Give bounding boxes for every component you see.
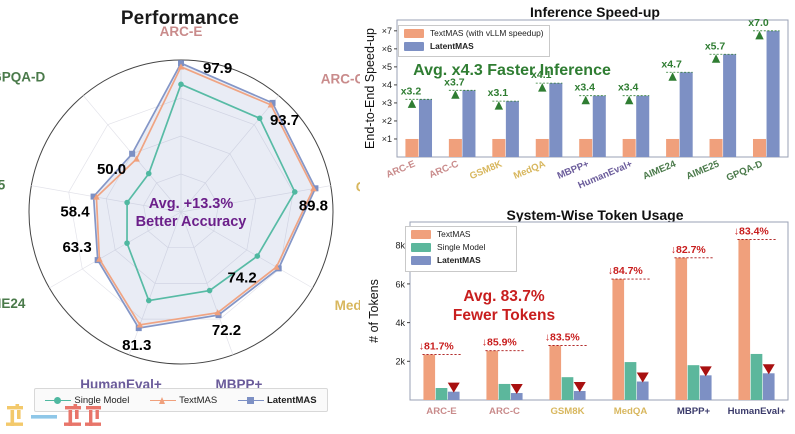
radar-legend-item-latentmas: LatentMAS xyxy=(238,395,317,406)
tokens-reduction-label: ↓83.4% xyxy=(734,225,770,237)
tokens-bar-single-model xyxy=(625,362,637,400)
speedup-bar-textmas xyxy=(666,139,679,157)
tokens-bar-textmas xyxy=(675,258,687,400)
radar-value-label: 72.2 xyxy=(212,322,241,339)
tokens-bar-latentmas xyxy=(574,391,586,400)
figure-root: Performance ARC-E97.9ARC-C93.7GSM8K89.8M… xyxy=(0,0,795,434)
radar-value-label: 97.9 xyxy=(203,60,232,77)
tokens-category-label: MedQA xyxy=(614,406,648,417)
radar-value-label: 50.0 xyxy=(97,161,126,178)
radar-axis-label: ARC-E xyxy=(160,24,203,39)
speedup-legend-item-latentmas: LatentMAS xyxy=(404,40,549,52)
radar-axis-label: GPQA-D xyxy=(0,70,46,85)
radar-legend-label: LatentMAS xyxy=(267,395,317,406)
tokens-y-tick: 2k xyxy=(395,357,405,367)
tokens-y-tick: 4k xyxy=(395,318,405,328)
tokens-legend-label: LatentMAS xyxy=(437,255,481,265)
radar-axis-label: AIME25 xyxy=(0,178,6,193)
tokens-bar-single-model xyxy=(751,354,763,400)
radar-chart-svg: ARC-E97.9ARC-C93.7GSM8K89.8MedQA74.2MBPP… xyxy=(0,0,360,400)
radar-value-label: 89.8 xyxy=(299,197,328,214)
line-marker-triangle-icon xyxy=(150,396,176,405)
speedup-y-tick: ×4 xyxy=(382,80,392,90)
tokens-reduction-label: ↓83.5% xyxy=(545,331,581,343)
radar-legend-item-textmas: TextMAS xyxy=(150,395,217,406)
tokens-bar-single-model xyxy=(688,365,700,400)
color-swatch-icon xyxy=(411,243,431,252)
tokens-legend: TextMAS Single Model LatentMAS xyxy=(405,226,517,272)
tokens-reduction-label: ↓84.7% xyxy=(608,265,644,277)
speedup-category-label: AIME24 xyxy=(641,158,678,182)
watermark-logo-icon xyxy=(4,400,112,432)
speedup-bar-latentmas xyxy=(636,96,649,157)
tokens-reduction-label: ↓81.7% xyxy=(419,341,455,353)
speedup-y-tick: ×5 xyxy=(382,62,392,72)
speedup-category-label: GPQA-D xyxy=(725,159,765,184)
tokens-bar-latentmas xyxy=(448,392,460,400)
speedup-value-label: x3.2 xyxy=(401,85,422,97)
color-swatch-icon xyxy=(404,42,424,51)
tokens-bar-single-model xyxy=(562,377,574,400)
tokens-legend-item-latentmas: LatentMAS xyxy=(411,254,516,266)
speedup-y-tick: ×2 xyxy=(382,116,392,126)
radar-value-label: 93.7 xyxy=(270,112,299,129)
radar-axis-label: MedQA xyxy=(335,298,360,313)
tokens-bar-textmas xyxy=(612,279,624,400)
performance-radar-panel: Performance ARC-E97.9ARC-C93.7GSM8K89.8M… xyxy=(0,0,360,434)
speedup-legend-label: LatentMAS xyxy=(430,41,474,51)
speedup-bar-textmas xyxy=(710,139,723,157)
speedup-value-label: x3.1 xyxy=(488,87,509,99)
speedup-legend-item-textmas: TextMAS (with vLLM speedup) xyxy=(404,27,549,39)
tokens-annotation-line1: Avg. 83.7% xyxy=(424,288,584,306)
tokens-category-label: HumanEval+ xyxy=(728,406,786,417)
speedup-bar-latentmas xyxy=(462,90,475,157)
speedup-bar-latentmas xyxy=(419,99,432,157)
speedup-bar-textmas xyxy=(753,139,766,157)
speedup-y-tick: ×3 xyxy=(382,98,392,108)
radar-axis-label: AIME24 xyxy=(0,296,26,311)
tokens-category-label: ARC-C xyxy=(489,406,520,417)
speedup-y-tick: ×7 xyxy=(382,26,392,36)
speedup-category-label: GSM8K xyxy=(468,159,504,182)
speedup-bar-latentmas xyxy=(680,72,693,157)
speedup-category-label: MedQA xyxy=(512,159,547,182)
tokens-y-tick: 6k xyxy=(395,279,405,289)
speedup-legend-label: TextMAS (with vLLM speedup) xyxy=(430,28,544,38)
speedup-bar-latentmas xyxy=(723,54,736,157)
radar-legend-label: TextMAS xyxy=(179,395,217,406)
radar-value-label: 81.3 xyxy=(122,337,151,354)
color-swatch-icon xyxy=(411,230,431,239)
tokens-bar-textmas xyxy=(486,351,498,400)
tokens-y-axis-label: # of Tokens xyxy=(367,279,381,343)
speedup-bar-textmas xyxy=(536,139,549,157)
tokens-legend-label: Single Model xyxy=(437,242,485,252)
radar-value-label: 74.2 xyxy=(227,269,256,286)
tokens-bar-latentmas xyxy=(637,382,649,400)
speedup-bar-latentmas xyxy=(593,96,606,157)
tokens-y-tick: 8k xyxy=(395,241,405,251)
tokens-category-label: ARC-E xyxy=(426,406,457,417)
radar-center-note-line2: Better Accuracy xyxy=(136,214,247,230)
speedup-bar-textmas xyxy=(449,139,462,157)
color-swatch-icon xyxy=(411,256,431,265)
speedup-value-label: x3.4 xyxy=(575,82,596,94)
color-swatch-icon xyxy=(404,29,424,38)
speedup-bar-textmas xyxy=(623,139,636,157)
speedup-bar-textmas xyxy=(579,139,592,157)
tokens-reduction-label: ↓85.9% xyxy=(482,337,518,349)
radar-value-label: 63.3 xyxy=(62,239,91,256)
tokens-bar-single-model xyxy=(436,388,448,400)
speedup-y-tick: ×6 xyxy=(382,44,392,54)
speedup-bar-textmas xyxy=(405,139,418,157)
tokens-legend-item-single-model: Single Model xyxy=(411,241,516,253)
tokens-annotation-line2: Fewer Tokens xyxy=(424,307,584,325)
speedup-value-label: x4.7 xyxy=(661,58,682,70)
tokens-legend-label: TextMAS xyxy=(437,229,471,239)
speedup-y-axis-label: End-to-End Speed-up xyxy=(363,28,377,149)
speedup-bar-latentmas xyxy=(549,83,562,157)
speedup-y-tick: ×1 xyxy=(382,134,392,144)
tokens-legend-item-textmas: TextMAS xyxy=(411,228,516,240)
tokens-category-label: GSM8K xyxy=(550,406,584,417)
radar-center-note-line1: Avg. +13.3% xyxy=(149,196,234,212)
speedup-value-label: x5.7 xyxy=(705,40,726,52)
tokens-bar-latentmas xyxy=(763,373,775,400)
speedup-value-label: x7.0 xyxy=(748,17,769,29)
tokens-bar-textmas xyxy=(738,239,750,400)
tokens-bar-textmas xyxy=(549,345,561,400)
speedup-legend: TextMAS (with vLLM speedup) LatentMAS xyxy=(398,25,550,57)
tokens-category-label: MBPP+ xyxy=(677,406,711,417)
radar-value-label: 58.4 xyxy=(60,204,90,221)
tokens-bar-single-model xyxy=(499,384,511,400)
speedup-bar-textmas xyxy=(492,139,505,157)
tokens-reduction-label: ↓82.7% xyxy=(671,244,707,256)
speedup-category-label: AIME25 xyxy=(685,158,722,182)
speedup-value-label: x3.4 xyxy=(618,82,639,94)
speedup-bar-latentmas xyxy=(767,31,780,157)
radar-axis-label: ARC-C xyxy=(321,72,360,87)
speedup-category-label: ARC-E xyxy=(385,158,418,180)
speedup-annotation: Avg. x4.3 Faster Inference xyxy=(392,62,632,81)
speedup-bar-latentmas xyxy=(506,101,519,157)
tokens-bar-textmas xyxy=(423,355,435,400)
tokens-bar-latentmas xyxy=(511,393,523,400)
line-marker-square-icon xyxy=(238,396,264,405)
speedup-category-label: ARC-C xyxy=(428,159,461,181)
tokens-bar-latentmas xyxy=(700,375,712,400)
